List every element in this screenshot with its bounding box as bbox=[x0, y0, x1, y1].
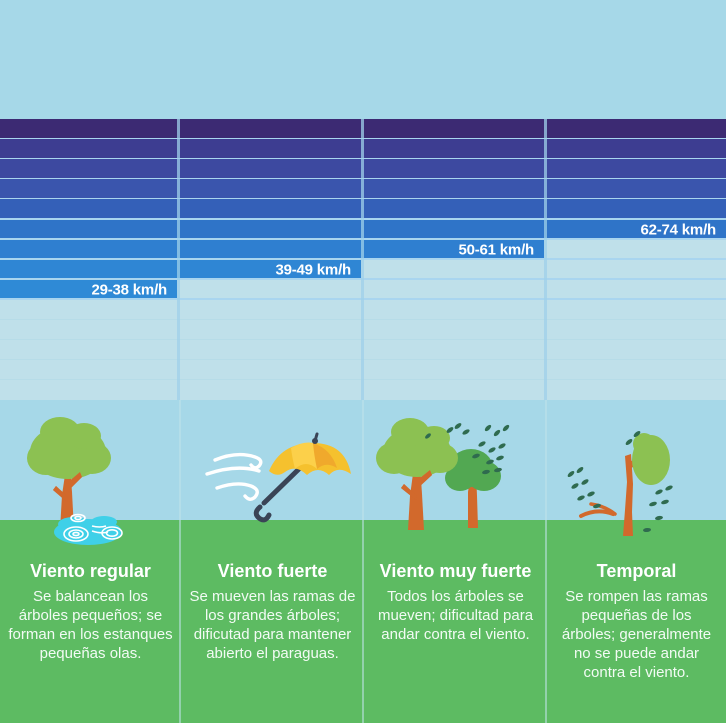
chart-bar: 39-49 km/h bbox=[0, 260, 361, 280]
panel-divider-1 bbox=[179, 400, 181, 723]
panel-description: Se mueven las ramas de los grandes árbol… bbox=[189, 587, 356, 663]
panel-text-1: Viento regular Se balancean los árboles … bbox=[0, 560, 181, 663]
wind-scale-infographic: 62-74 km/h50-61 km/h39-49 km/h29-38 km/h bbox=[0, 0, 726, 723]
bar-value-label: 39-49 km/h bbox=[275, 261, 351, 278]
panel-text-4: Temporal Se rompen las ramas pequeñas de… bbox=[547, 560, 726, 682]
panel-viento-regular[interactable]: Viento regular Se balancean los árboles … bbox=[0, 400, 181, 723]
panel-viento-muy-fuerte[interactable]: Viento muy fuerte Todos los árboles se m… bbox=[364, 400, 547, 723]
wind-category-panels: Viento regular Se balancean los árboles … bbox=[0, 400, 726, 723]
panel-text-2: Viento fuerte Se mueven las ramas de los… bbox=[181, 560, 364, 663]
panel-title: Temporal bbox=[555, 560, 718, 582]
bar-value-label: 50-61 km/h bbox=[458, 241, 534, 258]
top-sky-band bbox=[0, 0, 726, 119]
column-divider-3 bbox=[544, 119, 547, 400]
panel-description: Se balancean los árboles pequeños; se fo… bbox=[8, 587, 173, 663]
two-trees-with-leaves-icon bbox=[364, 400, 547, 560]
chart-bar: 50-61 km/h bbox=[0, 240, 544, 260]
panel-temporal[interactable]: Temporal Se rompen las ramas pequeñas de… bbox=[547, 400, 726, 723]
panel-title: Viento regular bbox=[8, 560, 173, 582]
broken-tree-icon bbox=[547, 400, 726, 560]
panel-divider-3 bbox=[545, 400, 547, 723]
column-divider-2 bbox=[361, 119, 364, 400]
bar-value-label: 29-38 km/h bbox=[91, 281, 167, 298]
panel-title: Viento fuerte bbox=[189, 560, 356, 582]
panel-divider-2 bbox=[362, 400, 364, 723]
column-divider-1 bbox=[177, 119, 180, 400]
wind-speed-bar-chart: 62-74 km/h50-61 km/h39-49 km/h29-38 km/h bbox=[0, 119, 726, 400]
panel-description: Todos los árboles se mueven; dificultad … bbox=[372, 587, 539, 644]
chart-bar: 29-38 km/h bbox=[0, 280, 177, 300]
panel-description: Se rompen las ramas pequeñas de los árbo… bbox=[555, 587, 718, 682]
panel-text-3: Viento muy fuerte Todos los árboles se m… bbox=[364, 560, 547, 644]
umbrella-with-wind-icon bbox=[181, 400, 364, 560]
bar-value-label: 62-74 km/h bbox=[640, 221, 716, 238]
panel-viento-fuerte[interactable]: Viento fuerte Se mueven las ramas de los… bbox=[181, 400, 364, 723]
panel-title: Viento muy fuerte bbox=[372, 560, 539, 582]
tree-with-pond-icon bbox=[0, 400, 181, 560]
